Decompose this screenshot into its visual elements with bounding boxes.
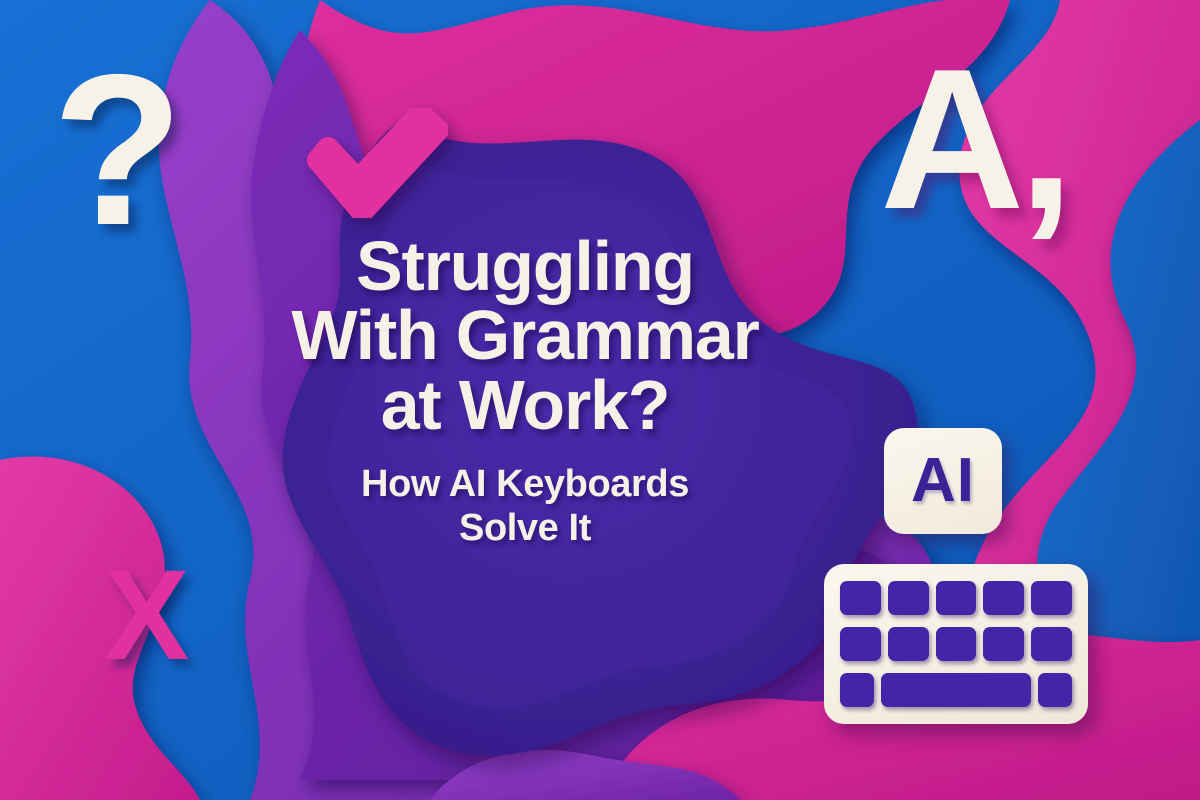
keyboard-row-1 (840, 581, 1072, 615)
keyboard-key (840, 581, 881, 615)
keyboard-key (1038, 673, 1072, 707)
keyboard-row-3 (840, 673, 1072, 707)
x-mark-icon: X (104, 552, 189, 680)
keyboard-key (1031, 581, 1072, 615)
keyboard-row-2 (840, 627, 1072, 661)
question-mark-icon: ? (52, 48, 181, 252)
keyboard-key (1031, 627, 1072, 661)
keyboard-key (840, 673, 874, 707)
page-title: Struggling With Grammar at Work? (30, 232, 1020, 440)
keyboard-key (936, 627, 977, 661)
subtitle-line-2: Solve It (30, 506, 1020, 550)
ai-badge-label: AI (911, 450, 975, 512)
title-line-1: Struggling (30, 232, 1020, 301)
keyboard-key (983, 627, 1024, 661)
title-line-2: With Grammar (30, 301, 1020, 370)
title-line-3: at Work? (30, 371, 1020, 440)
page-subtitle: How AI Keyboards Solve It (30, 462, 1020, 551)
keyboard-key (888, 581, 929, 615)
keyboard-icon (824, 564, 1088, 724)
letter-a-comma-icon: A, (880, 40, 1068, 240)
check-icon (300, 108, 448, 218)
keyboard-key (840, 627, 881, 661)
keyboard-key (936, 581, 977, 615)
keyboard-spacebar-key (881, 673, 1031, 707)
headline-block: Struggling With Grammar at Work? How AI … (0, 232, 1200, 551)
poster-canvas: ? X A, Struggling With Grammar at Work? … (0, 0, 1200, 800)
keyboard-key (888, 627, 929, 661)
ai-badge: AI (884, 428, 1002, 534)
keyboard-key (983, 581, 1024, 615)
subtitle-line-1: How AI Keyboards (30, 462, 1020, 506)
